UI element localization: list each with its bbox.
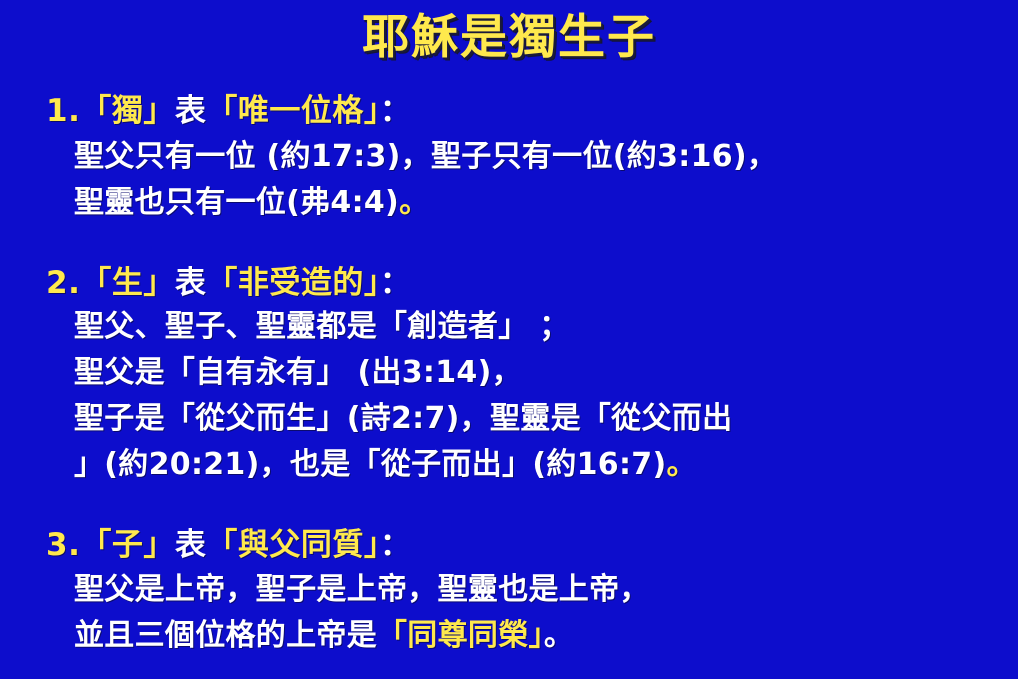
- item-2-line-2: 聖父是「自有永有」 (出3:14)，: [74, 350, 1006, 396]
- item-3-colon: ：: [380, 527, 412, 563]
- item-2-number: 2.: [46, 265, 80, 301]
- item-2-colon: ：: [380, 265, 412, 301]
- item-1-lines: 聖父只有一位 (約17:3)，聖子只有一位(約3:16)， 聖靈也只有一位(弗4…: [74, 134, 1006, 226]
- item-3-lines: 聖父是上帝，聖子是上帝，聖靈也是上帝， 並且三個位格的上帝是「同尊同榮」。: [74, 567, 1006, 659]
- item-1-line-1: 聖父只有一位 (約17:3)，聖子只有一位(約3:16)，: [74, 134, 1006, 180]
- list-item: 2.「生」表「非受造的」： 聖父、聖子、聖靈都是「創造者」 ； 聖父是「自有永有…: [46, 262, 1006, 488]
- item-2-keyword: 「生」: [80, 265, 175, 301]
- item-2-line-4-period: 。: [666, 447, 696, 482]
- slide-canvas: 耶穌是獨生子 1.「獨」表「唯一位格」： 聖父只有一位 (約17:3)，聖子只有…: [0, 0, 1018, 679]
- item-3-heading: 3.「子」表「與父同質」：: [46, 524, 1006, 567]
- item-2-definition: 「非受造的」: [206, 265, 380, 301]
- item-3-line-2-highlight: 「同尊同榮」: [377, 618, 544, 653]
- item-3-line-2-period: 。: [544, 618, 574, 653]
- item-2-lines: 聖父、聖子、聖靈都是「創造者」 ； 聖父是「自有永有」 (出3:14)， 聖子是…: [74, 304, 1006, 488]
- item-3-number: 3.: [46, 527, 80, 563]
- item-2-heading: 2.「生」表「非受造的」：: [46, 262, 1006, 305]
- item-3-keyword: 「子」: [80, 527, 175, 563]
- item-1-colon: ：: [380, 93, 412, 129]
- item-1-definition: 「唯一位格」: [206, 93, 380, 129]
- item-1-number: 1.: [46, 93, 80, 129]
- list-item: 1.「獨」表「唯一位格」： 聖父只有一位 (約17:3)，聖子只有一位(約3:1…: [46, 90, 1006, 226]
- item-1-keyword: 「獨」: [80, 93, 175, 129]
- item-1-heading: 1.「獨」表「唯一位格」：: [46, 90, 1006, 133]
- item-1-line-2-period: 。: [399, 185, 429, 220]
- item-3-definition: 「與父同質」: [206, 527, 380, 563]
- item-1-connector: 表: [175, 93, 207, 129]
- slide-body: 1.「獨」表「唯一位格」： 聖父只有一位 (約17:3)，聖子只有一位(約3:1…: [46, 90, 1006, 664]
- item-2-line-1: 聖父、聖子、聖靈都是「創造者」 ；: [74, 304, 1006, 350]
- item-2-line-4: 」(約20:21)，也是「從子而出」(約16:7)。: [74, 442, 1006, 488]
- item-3-connector: 表: [175, 527, 207, 563]
- item-1-line-2-text: 聖靈也只有一位(弗4:4): [74, 185, 399, 220]
- item-1-line-2: 聖靈也只有一位(弗4:4)。: [74, 180, 1006, 226]
- item-3-line-2: 並且三個位格的上帝是「同尊同榮」。: [74, 613, 1006, 659]
- item-2-line-3: 聖子是「從父而生」(詩2:7)，聖靈是「從父而出: [74, 396, 1006, 442]
- list-item: 3.「子」表「與父同質」： 聖父是上帝，聖子是上帝，聖靈也是上帝， 並且三個位格…: [46, 524, 1006, 659]
- item-2-connector: 表: [175, 265, 207, 301]
- page-title: 耶穌是獨生子: [0, 14, 1018, 61]
- item-2-line-4-text: 」(約20:21)，也是「從子而出」(約16:7): [74, 447, 666, 482]
- item-3-line-2-text: 並且三個位格的上帝是: [74, 618, 377, 653]
- item-3-line-1: 聖父是上帝，聖子是上帝，聖靈也是上帝，: [74, 567, 1006, 613]
